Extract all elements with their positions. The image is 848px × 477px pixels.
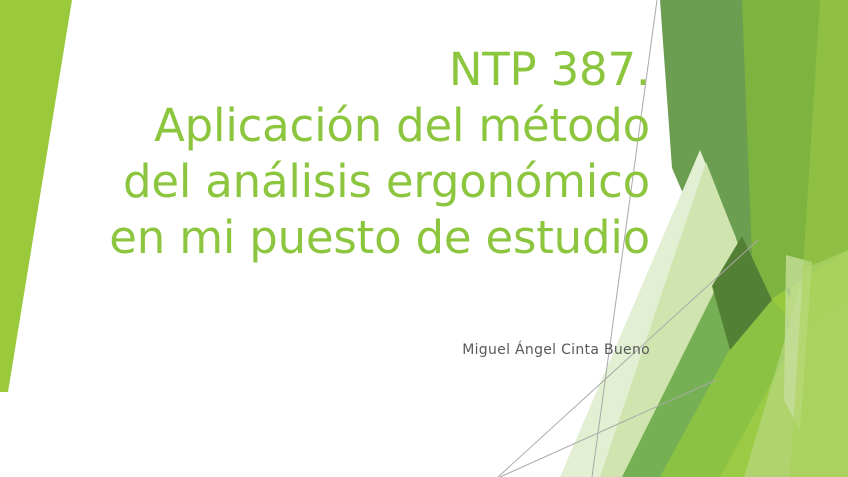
subtitle-line-1: Miguel Ángel Cinta Bueno: [60, 340, 650, 360]
title-line-2: Aplicación del método: [60, 98, 650, 154]
title-line-3: del análisis ergonómico: [60, 154, 650, 210]
slide-subtitle: Miguel Ángel Cinta Bueno: [60, 340, 650, 360]
title-line-1: NTP 387.: [60, 42, 650, 98]
presentation-slide: NTP 387. Aplicación del método del análi…: [0, 0, 848, 477]
slide-content: NTP 387. Aplicación del método del análi…: [0, 0, 848, 477]
slide-title: NTP 387. Aplicación del método del análi…: [60, 42, 650, 266]
title-line-4: en mi puesto de estudio: [60, 210, 650, 266]
